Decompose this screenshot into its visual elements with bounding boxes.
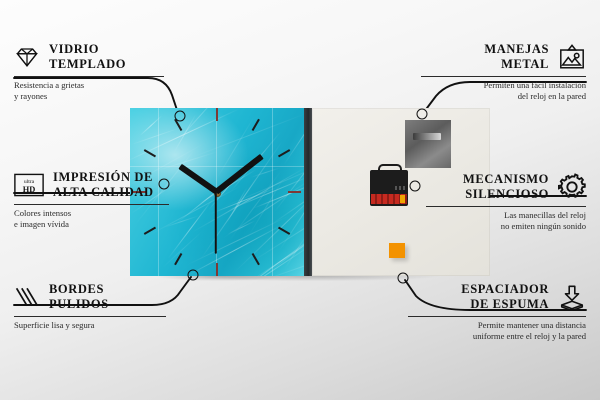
- feature-title-line1: MECANISMO: [463, 172, 549, 187]
- feature-title-line2: ALTA CALIDAD: [53, 185, 154, 200]
- feature-impresion-alta-calidad: ultra HD IMPRESIÓN DE ALTA CALIDAD Color…: [14, 170, 169, 230]
- clock-hour-hand: [178, 165, 217, 195]
- feature-title-line1: ESPACIADOR: [461, 282, 549, 297]
- divider: [421, 76, 586, 77]
- gear-icon: [558, 173, 586, 201]
- feature-desc-line2: no emiten ningún sonido: [426, 221, 586, 232]
- arrow-press-pad-icon: [558, 284, 586, 311]
- callout-dot-manejas: [417, 109, 428, 120]
- feature-mecanismo-silencioso: MECANISMO SILENCIOSO Las manecillas del …: [426, 172, 586, 232]
- divider: [408, 316, 586, 317]
- feature-title-line1: MANEJAS: [484, 42, 549, 57]
- feature-espaciador-espuma: ESPACIADOR DE ESPUMA Permite mantener un…: [408, 282, 586, 342]
- feature-title-line2: METAL: [484, 57, 549, 72]
- diamond-icon: [14, 45, 40, 69]
- feature-desc-line1: Superficie lisa y segura: [14, 320, 166, 331]
- feature-title-line1: IMPRESIÓN DE: [53, 170, 154, 185]
- feature-title-line2: SILENCIOSO: [463, 187, 549, 202]
- feature-title-line2: TEMPLADO: [49, 57, 126, 72]
- feature-desc-line1: Las manecillas del reloj: [426, 210, 586, 221]
- feature-desc-line1: Permiten una fácil instalación: [421, 80, 586, 91]
- metal-hanger-plate: [405, 120, 451, 168]
- clock-glass-edge: [304, 108, 312, 276]
- infographic-canvas: VIDRIO TEMPLADO Resistencia a grietas y …: [0, 0, 600, 400]
- clock-movement: [370, 170, 408, 206]
- feature-desc-line2: uniforme entre el reloj y la pared: [408, 331, 586, 342]
- feature-desc-line2: e imagen vívida: [14, 219, 169, 230]
- clock-second-hand: [215, 192, 217, 254]
- feature-title-line1: VIDRIO: [49, 42, 126, 57]
- divider: [14, 76, 164, 77]
- svg-text:HD: HD: [23, 185, 36, 194]
- hanging-frame-icon: [558, 44, 586, 71]
- feature-desc-line1: Resistencia a grietas: [14, 80, 164, 91]
- feature-bordes-pulidos: BORDES PULIDOS Superficie lisa y segura: [14, 282, 166, 331]
- clock-tick: [216, 263, 218, 276]
- divider: [14, 204, 169, 205]
- callout-dot-mecanismo: [410, 181, 421, 192]
- clock-tick: [216, 108, 218, 121]
- feature-desc-line2: y rayones: [14, 91, 164, 102]
- callout-dot-vidrio-templado: [175, 111, 186, 122]
- callout-dot-espaciador: [398, 273, 409, 284]
- clock-tick: [252, 119, 260, 131]
- feature-manejas-metal: MANEJAS METAL Permiten una fácil instala…: [421, 42, 586, 102]
- ultra-hd-icon: ultra HD: [14, 173, 44, 197]
- feature-desc-line1: Colores intensos: [14, 208, 169, 219]
- feature-vidrio-templado: VIDRIO TEMPLADO Resistencia a grietas y …: [14, 42, 164, 102]
- battery-compartment: [371, 194, 407, 204]
- feature-desc-line2: del reloj en la pared: [421, 91, 586, 102]
- foam-spacer: [389, 243, 405, 258]
- feature-title-line2: DE ESPUMA: [461, 297, 549, 312]
- callout-dot-bordes: [188, 270, 199, 281]
- feature-title-line1: BORDES: [49, 282, 109, 297]
- diagonal-stripes-icon: [14, 285, 40, 309]
- clock-tick: [288, 191, 301, 193]
- feature-desc-line1: Permite mantener una distancia: [408, 320, 586, 331]
- clock-tick: [278, 227, 290, 235]
- divider: [426, 206, 586, 207]
- feature-title-line2: PULIDOS: [49, 297, 109, 312]
- divider: [14, 316, 166, 317]
